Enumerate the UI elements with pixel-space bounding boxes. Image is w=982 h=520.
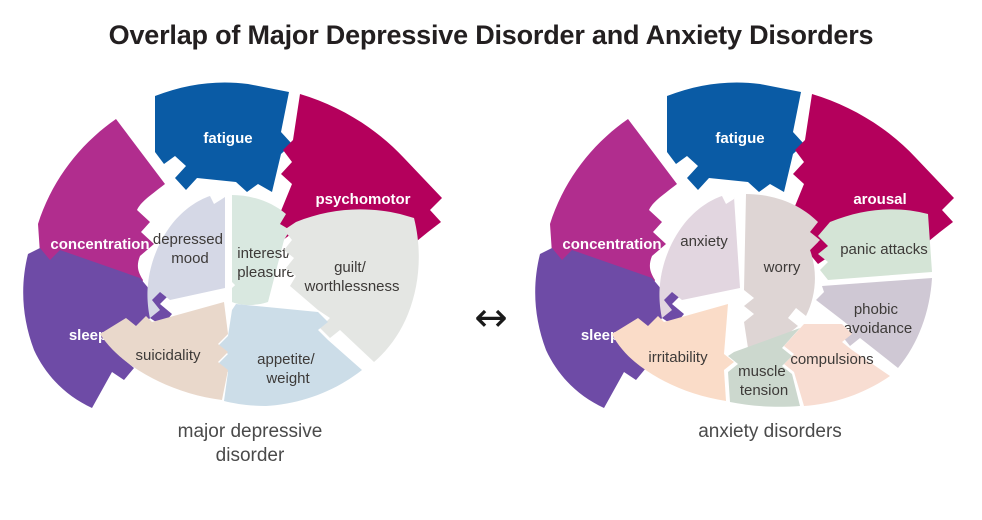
page-title: Overlap of Major Depressive Disorder and… — [0, 20, 982, 51]
mdd-caption-line-1: major depressive — [60, 420, 440, 444]
anxiety-diagram: concentration fatigue arousal sleep anxi… — [512, 72, 982, 432]
mdd-caption: major depressive disorder — [60, 420, 440, 468]
diagram-stage: concentration fatigue psychomotor sleep … — [0, 72, 982, 432]
anxiety-inner-ring: anxiety worry panic attacks phobic avoid… — [612, 194, 932, 407]
anxiety-caption-line-1: anxiety disorders — [600, 420, 940, 444]
mdd-diagram: concentration fatigue psychomotor sleep … — [0, 72, 470, 432]
anxiety-caption: anxiety disorders — [600, 420, 940, 444]
piece-fatigue[interactable] — [667, 83, 804, 193]
piece-fatigue[interactable] — [155, 83, 292, 193]
mdd-inner-ring: depressed mood interest/ pleasure guilt/… — [100, 195, 419, 406]
mdd-caption-line-2: disorder — [60, 444, 440, 468]
